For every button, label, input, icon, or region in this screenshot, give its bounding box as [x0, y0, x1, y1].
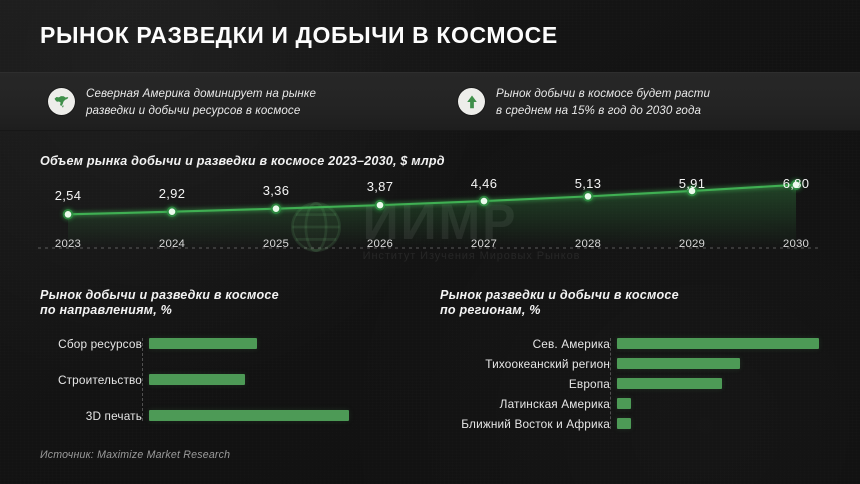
highlight-item-growth: Рынок добычи в космосе будет расти в сре… — [458, 73, 710, 130]
line-chart-year-label: 2023 — [55, 238, 81, 250]
bar-fill — [617, 398, 631, 409]
bar-chart-segments: Рынок добычи и разведки в космосе по нап… — [40, 288, 400, 421]
bar-row: Ближний Восток и Африка — [440, 418, 840, 429]
bar-chart-regions-body: Сев. АмерикаТихоокеанский регионЕвропаЛа… — [440, 338, 840, 429]
source-note: Источник: Maximize Market Research — [40, 449, 230, 461]
bar-label: 3D печать — [40, 409, 149, 423]
highlight-text: Рынок добычи в космосе будет расти в сре… — [496, 85, 710, 119]
line-chart-value-label: 5,13 — [575, 176, 602, 191]
bar-row: Тихоокеанский регион — [440, 358, 840, 369]
bar-label: Сев. Америка — [440, 337, 617, 351]
bar-chart-segments-title: Рынок добычи и разведки в космосе по нап… — [40, 288, 400, 318]
line-chart-value-label: 3,36 — [263, 183, 290, 198]
line-chart-value-label: 4,46 — [471, 176, 498, 191]
infographic-poster: Рынок разведки и добычи в космосе Северн… — [0, 0, 860, 484]
highlight-item-north-america: Северная Америка доминирует на рынке раз… — [48, 73, 316, 130]
bar-row: 3D печать — [40, 410, 400, 421]
bar-label: Сбор ресурсов — [40, 337, 149, 351]
bar-fill — [617, 358, 740, 369]
bar-chart-axis — [142, 338, 143, 421]
line-chart-year-label: 2030 — [783, 238, 809, 250]
line-chart-year-label: 2028 — [575, 238, 601, 250]
bar-label: Тихоокеанский регион — [440, 357, 617, 371]
bar-track — [617, 378, 819, 389]
bar-row: Европа — [440, 378, 840, 389]
line-chart-value-label: 6,80 — [783, 176, 810, 191]
bar-track — [617, 398, 819, 409]
bar-fill — [149, 374, 245, 385]
highlights-banner: Северная Америка доминирует на рынке раз… — [0, 72, 860, 131]
bar-label: Латинская Америка — [440, 397, 617, 411]
bar-row: Латинская Америка — [440, 398, 840, 409]
bar-label: Ближний Восток и Африка — [440, 417, 617, 431]
bar-chart-axis — [610, 338, 611, 429]
bar-fill — [149, 410, 349, 421]
bar-fill — [617, 378, 722, 389]
highlight-text: Северная Америка доминирует на рынке раз… — [86, 85, 316, 119]
line-chart-value-label: 2,92 — [159, 186, 186, 201]
bar-row: Сев. Америка — [440, 338, 840, 349]
north-america-map-icon — [48, 88, 75, 115]
bar-track — [149, 338, 349, 349]
bar-row: Сбор ресурсов — [40, 338, 400, 349]
bar-track — [149, 410, 349, 421]
bar-label: Строительство — [40, 373, 149, 387]
line-chart-value-label: 2,54 — [55, 188, 82, 203]
line-chart-value-label: 3,87 — [367, 179, 394, 194]
line-chart-year-label: 2029 — [679, 238, 705, 250]
line-chart-year-label: 2024 — [159, 238, 185, 250]
bar-chart-regions-title: Рынок разведки и добычи в космосе по рег… — [440, 288, 840, 318]
line-chart-title: Объем рынка добычи и разведки в космосе … — [40, 154, 445, 169]
line-chart-x-axis: 20232024202520262027202820292030 — [32, 238, 832, 254]
bar-track — [149, 374, 349, 385]
bar-chart-regions: Рынок разведки и добычи в космосе по рег… — [440, 288, 840, 429]
bar-fill — [617, 418, 631, 429]
bar-row: Строительство — [40, 374, 400, 385]
bar-chart-segments-body: Сбор ресурсовСтроительство3D печать — [40, 338, 400, 421]
line-chart-year-label: 2026 — [367, 238, 393, 250]
bar-track — [617, 418, 819, 429]
line-chart-year-label: 2027 — [471, 238, 497, 250]
page-title: Рынок разведки и добычи в космосе — [40, 22, 558, 49]
bar-track — [617, 338, 819, 349]
bar-fill — [149, 338, 257, 349]
up-arrow-icon — [458, 88, 485, 115]
bar-fill — [617, 338, 819, 349]
bar-label: Европа — [440, 377, 617, 391]
bar-track — [617, 358, 819, 369]
line-chart-year-label: 2025 — [263, 238, 289, 250]
line-chart-value-label: 5,91 — [679, 176, 706, 191]
